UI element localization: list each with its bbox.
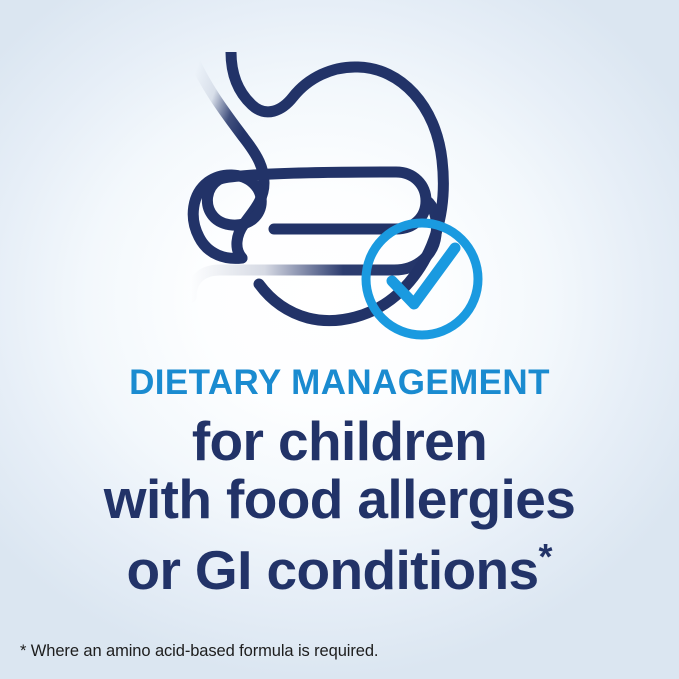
claim-text-block: DIETARY MANAGEMENT for children with foo… bbox=[0, 363, 679, 599]
eyebrow-heading: DIETARY MANAGEMENT bbox=[0, 363, 679, 403]
check-circle bbox=[366, 223, 478, 335]
intestine-coil bbox=[193, 172, 426, 258]
headline-line-1: for children bbox=[0, 412, 679, 470]
headline-line-3-wrap: or GI conditions* bbox=[0, 528, 679, 599]
product-claim-graphic: DIETARY MANAGEMENT for children with foo… bbox=[0, 0, 679, 679]
headline: for children with food allergies or GI c… bbox=[0, 412, 679, 599]
footnote-text: * Where an amino acid-based formula is r… bbox=[20, 641, 378, 661]
stomach-intestine-check-icon bbox=[186, 52, 496, 352]
headline-asterisk: * bbox=[539, 536, 553, 577]
headline-line-2: with food allergies bbox=[0, 470, 679, 528]
headline-line-3: or GI conditions bbox=[126, 539, 538, 601]
check-circle-group bbox=[366, 223, 478, 335]
